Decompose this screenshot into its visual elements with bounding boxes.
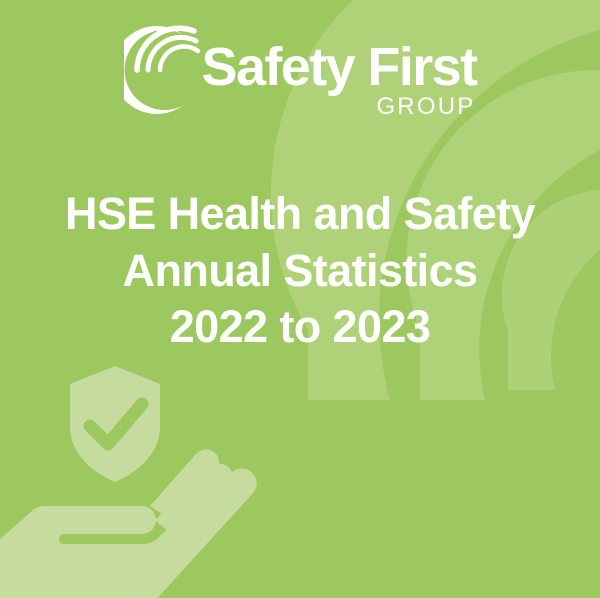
brand-logo: Safety First GROUP [0,26,600,122]
poster-canvas: Safety First GROUP HSE Health and Safety… [0,0,600,598]
shield-check-icon [70,366,160,482]
title-line-3: 2022 to 2023 [0,299,600,356]
title-line-2: Annual Statistics [0,243,600,300]
title-line-1: HSE Health and Safety [0,186,600,243]
logo-wordmark: Safety First [202,42,477,93]
hand-holding-shield-illustration [0,354,292,598]
page-title: HSE Health and Safety Annual Statistics … [0,186,600,356]
open-hand-icon [0,449,257,598]
logo-sub-wordmark: GROUP [376,95,475,119]
